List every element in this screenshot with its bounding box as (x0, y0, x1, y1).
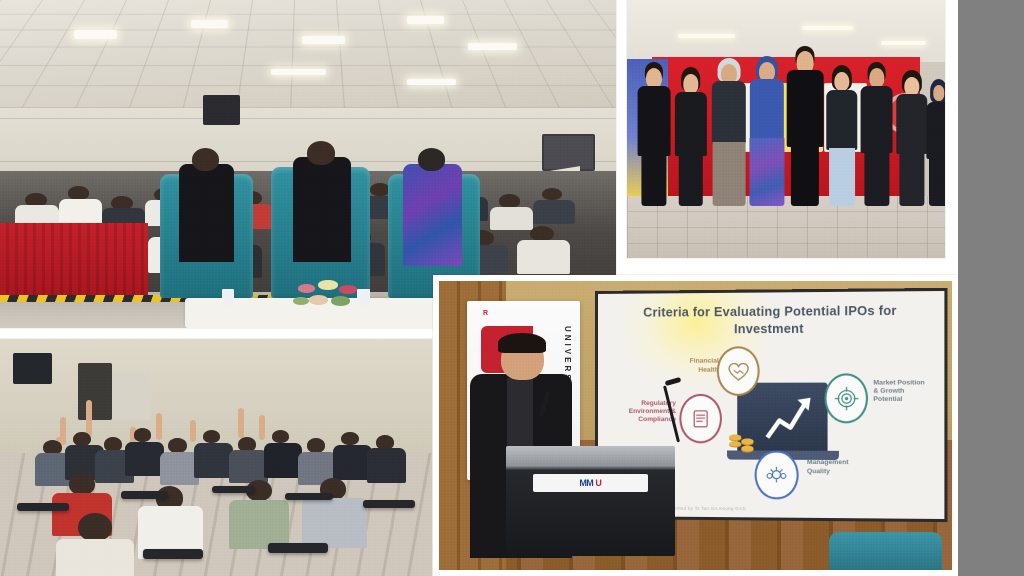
speaker-presentation-photo: Criteria for Evaluating Potential IPOs f… (433, 275, 958, 576)
node-financial-health-label: Financial Health (658, 358, 720, 375)
group-member (786, 46, 824, 206)
node-regulatory-compliance (680, 394, 723, 443)
group-member (748, 54, 786, 206)
node-management-quality-label: Management Quality (807, 459, 891, 476)
water-bottle (222, 289, 234, 305)
right-gray-band (958, 0, 1024, 576)
wall-seam (0, 118, 616, 119)
node-management-quality (755, 450, 798, 500)
document-scroll-icon (688, 403, 715, 435)
presenter-seated (179, 164, 234, 262)
collage-canvas: Criteria for Evaluating Potential IPOs f… (0, 0, 1024, 576)
red-draped-table (0, 223, 148, 295)
growth-arrow-icon (762, 394, 818, 444)
banner-registered-mark: R (483, 310, 488, 317)
presenter-seated (403, 164, 462, 266)
node-market-position-label: Market Position & Growth Potential (874, 379, 941, 404)
ceiling-light (407, 79, 456, 85)
group-member (637, 62, 672, 206)
mmu-logo-accent: U (595, 478, 601, 488)
podium: MMU (506, 446, 675, 556)
wall-monitor (13, 353, 52, 384)
classroom-audience-photo (0, 339, 432, 576)
classroom-crowd (0, 410, 432, 576)
podium-nameplate: MMU (533, 474, 648, 492)
presenter-head (192, 148, 219, 171)
wall-speaker (203, 95, 240, 125)
group-member (824, 65, 859, 207)
speaker-hair (498, 333, 545, 353)
ceiling-light (191, 20, 228, 28)
mmu-logo-text: MM (579, 478, 593, 488)
presenter-seated (293, 157, 352, 262)
slide-title: Criteria for Evaluating Potential IPOs f… (622, 303, 920, 340)
wall-monitor (542, 134, 595, 171)
ceiling-light (74, 30, 117, 39)
gears-icon (763, 459, 790, 491)
ceiling-light (468, 43, 517, 50)
teal-sofa (829, 532, 942, 570)
node-regulatory-compliance-label: Regulatory Environment & Compliance (605, 400, 676, 425)
ceiling-light (302, 36, 345, 44)
flower-arrangement (290, 279, 370, 318)
presenter-head (307, 141, 335, 165)
group-member (859, 62, 894, 206)
ceiling-light (881, 41, 926, 45)
group-member (924, 77, 945, 206)
ceiling-light (802, 26, 853, 30)
node-market-position (825, 373, 869, 423)
group-photo (627, 0, 945, 258)
ceiling-light (678, 34, 735, 38)
target-icon (833, 382, 861, 414)
ceiling-light (407, 16, 444, 24)
ceiling-light (271, 69, 326, 75)
group-member (673, 67, 708, 206)
group-member (710, 57, 748, 207)
heart-handshake-icon (725, 356, 752, 388)
presenter-head (418, 148, 446, 171)
